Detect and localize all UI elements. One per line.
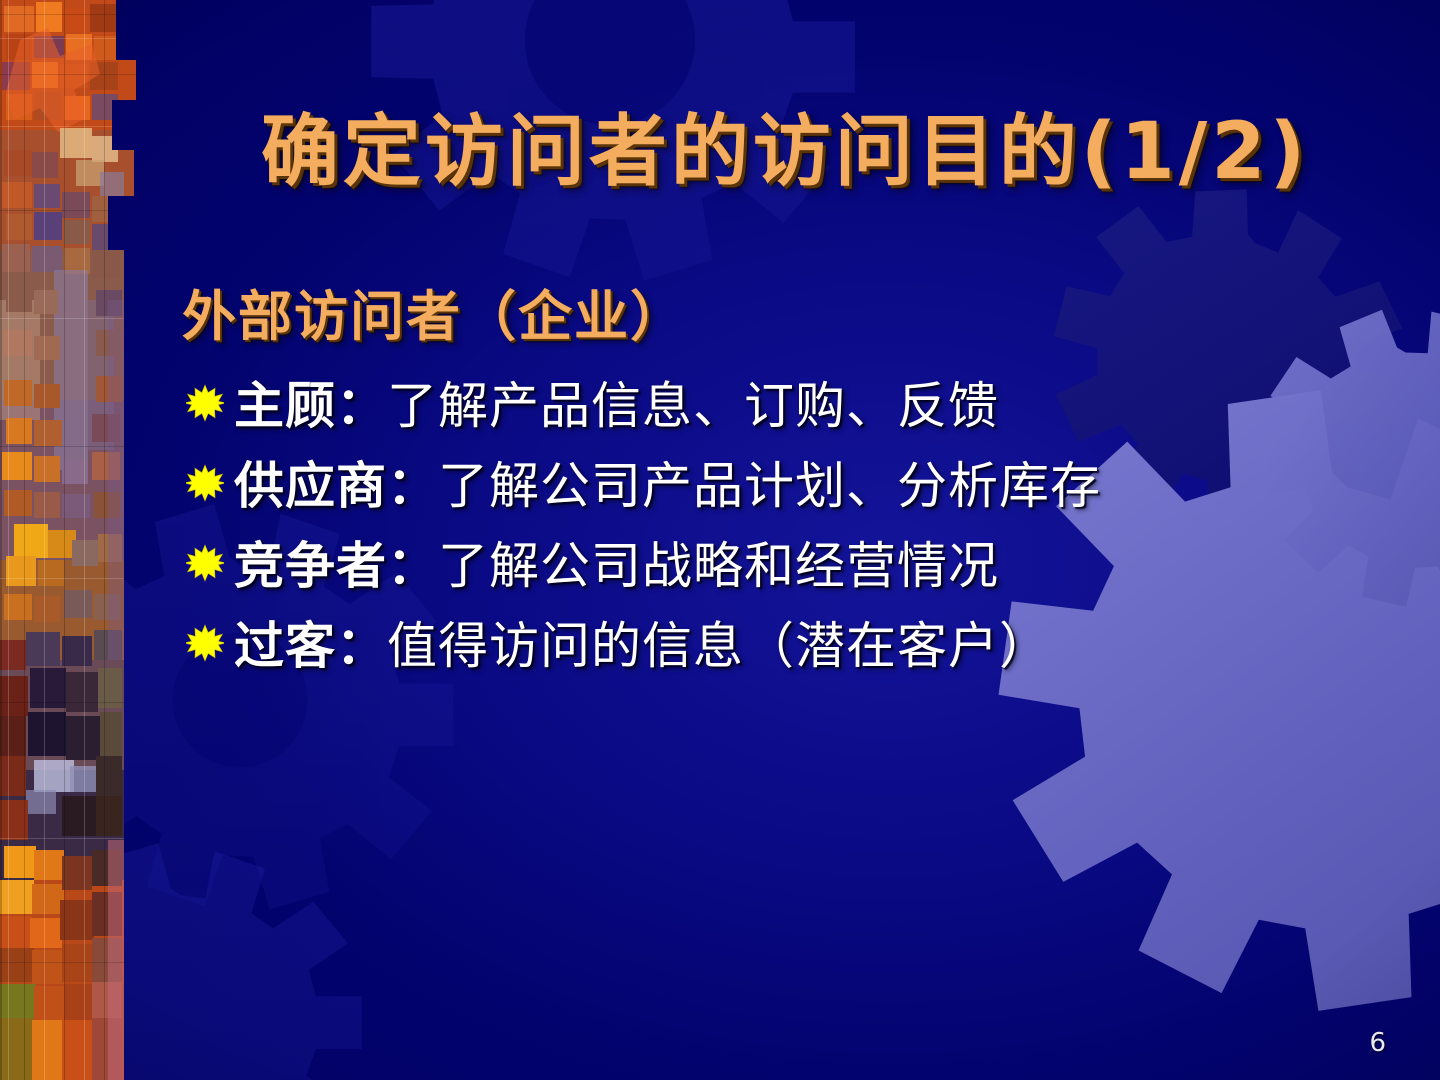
slide-subtitle: 外部访问者（企业）: [182, 272, 686, 351]
starburst-bullet-icon: [186, 384, 224, 422]
bullet-rest: 了解公司战略和经营情况: [438, 537, 999, 595]
bullet-lead: 竞争者：: [234, 537, 438, 595]
list-item: 供应商：了解公司产品计划、分析库存: [186, 442, 1366, 522]
list-item: 过客：值得访问的信息（潜在客户）: [186, 602, 1366, 682]
list-item: 主顾：了解产品信息、订购、反馈: [186, 362, 1366, 442]
bullet-list: 主顾：了解产品信息、订购、反馈 供应商：了解公司产品计划、分析库存 竞争者：了解…: [186, 362, 1366, 682]
bullet-rest: 了解产品信息、订购、反馈: [387, 377, 999, 435]
bullet-text: 主顾：了解产品信息、订购、反馈: [234, 366, 999, 438]
list-item: 竞争者：了解公司战略和经营情况: [186, 522, 1366, 602]
bullet-lead: 过客：: [234, 617, 387, 675]
bullet-text: 供应商：了解公司产品计划、分析库存: [234, 446, 1101, 518]
bullet-text: 竞争者：了解公司战略和经营情况: [234, 526, 999, 598]
slide-title: 确定访问者的访问目的(1/2): [170, 112, 1400, 194]
starburst-bullet-icon: [186, 464, 224, 502]
bullet-lead: 供应商：: [234, 457, 438, 515]
bullet-rest: 值得访问的信息（潜在客户）: [387, 617, 1050, 675]
starburst-bullet-icon: [186, 624, 224, 662]
slide-canvas: 确定访问者的访问目的(1/2) 外部访问者（企业） 主顾：了解产品信息、订购、反…: [0, 0, 1440, 1080]
bullet-lead: 主顾：: [234, 377, 387, 435]
page-number: 6: [1369, 1028, 1386, 1058]
bullet-rest: 了解公司产品计划、分析库存: [438, 457, 1101, 515]
left-texture-strip: [0, 0, 136, 1080]
bullet-text: 过客：值得访问的信息（潜在客户）: [234, 606, 1050, 678]
starburst-bullet-icon: [186, 544, 224, 582]
